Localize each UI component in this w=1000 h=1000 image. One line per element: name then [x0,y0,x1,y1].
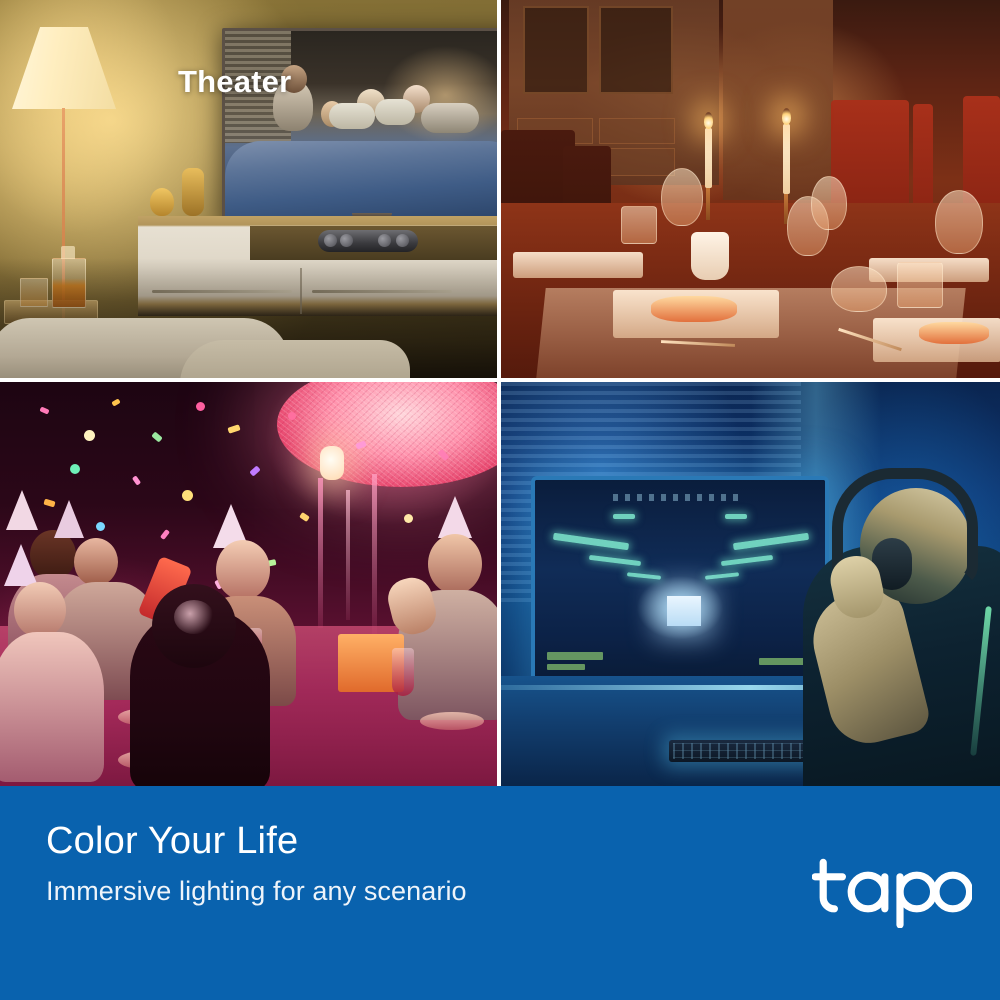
streamer [372,474,377,634]
party-plate [420,712,484,730]
scene-tile-fine-diner[interactable]: Fine diner [501,0,1000,378]
scene-grid: Theater [0,0,1000,786]
hutch-glass-pane [523,6,589,94]
foreground-guest-hairlight [174,600,214,634]
tv-pillow [329,103,375,129]
tumbler-glass [897,262,943,308]
crystal-bowl [831,266,887,312]
promo-page: Theater [0,0,1000,1000]
cream-pitcher [691,232,729,280]
ceiling-light [725,514,747,519]
speaker-driver-icon [324,234,337,247]
wine-glass-bowl [811,176,847,230]
corridor-light-bar [589,555,641,566]
wine-glass-bowl [661,168,703,226]
tv-person-girl-body [421,103,479,133]
hutch-drawer [599,118,675,144]
guest-head [428,534,482,594]
plated-food [919,322,989,344]
scene-label-theater: Theater [178,64,291,100]
scene-tile-gaming[interactable]: Gaming [501,382,1000,786]
guest-head [74,538,118,586]
streamer [318,478,323,628]
party-hat-icon [6,490,38,530]
speaker-driver-icon [378,234,391,247]
tapo-logo [812,856,972,928]
candle-flame-icon [704,112,713,129]
corridor-light-bar [627,572,661,580]
television [222,28,497,222]
speaker-driver-icon [340,234,353,247]
decor-vase-round [150,188,174,216]
tv-pillow [375,99,415,125]
corridor-light-bar [721,555,773,566]
corridor-light-bar [553,533,629,551]
confetti [70,464,80,474]
candlestick-holder [706,186,710,220]
party-hat-icon [438,496,472,538]
wall-panel-door [723,0,833,200]
guest-head [14,582,66,638]
wine-glass [392,648,414,696]
hutch-glass-pane [599,6,673,94]
game-screen-content [535,480,825,704]
candle [783,124,790,194]
decor-vase-tall [182,168,204,216]
confetti [196,402,205,411]
gaming-monitor [531,476,829,708]
confetti [182,490,193,501]
hanging-bulb-icon [320,446,344,480]
party-hat-icon [4,544,38,586]
confetti [96,522,105,531]
ceiling-light [613,514,635,519]
soundbar [318,230,418,252]
hud-top-text [613,494,745,501]
streamer [346,490,350,620]
banner-subheadline: Immersive lighting for any scenario [46,876,467,907]
candle-flame-icon [782,108,791,125]
corridor-end-doorway [667,596,701,626]
tumbler-glass [621,206,657,244]
scene-tile-theater[interactable]: Theater [0,0,497,378]
guest-head [216,540,270,600]
confetti [84,430,95,441]
hud-element [759,658,809,665]
party-hat-icon [54,500,84,538]
hud-element [547,664,585,670]
corridor-light-bar [733,533,809,551]
scene-tile-party[interactable]: Party [0,382,497,786]
confetti [288,412,296,420]
banner-headline: Color Your Life [46,820,298,863]
candle [705,128,712,188]
tv-bed-blanket [225,141,497,219]
dinner-plate [513,252,643,278]
confetti [404,514,413,523]
sofa-cushion [180,340,410,378]
guest-body [0,632,104,782]
wine-glass-bowl [935,190,983,254]
corridor-light-bar [705,572,739,580]
plated-food [651,296,737,322]
hud-element [547,652,603,660]
speaker-driver-icon [396,234,409,247]
tv-screen-content [225,31,497,219]
